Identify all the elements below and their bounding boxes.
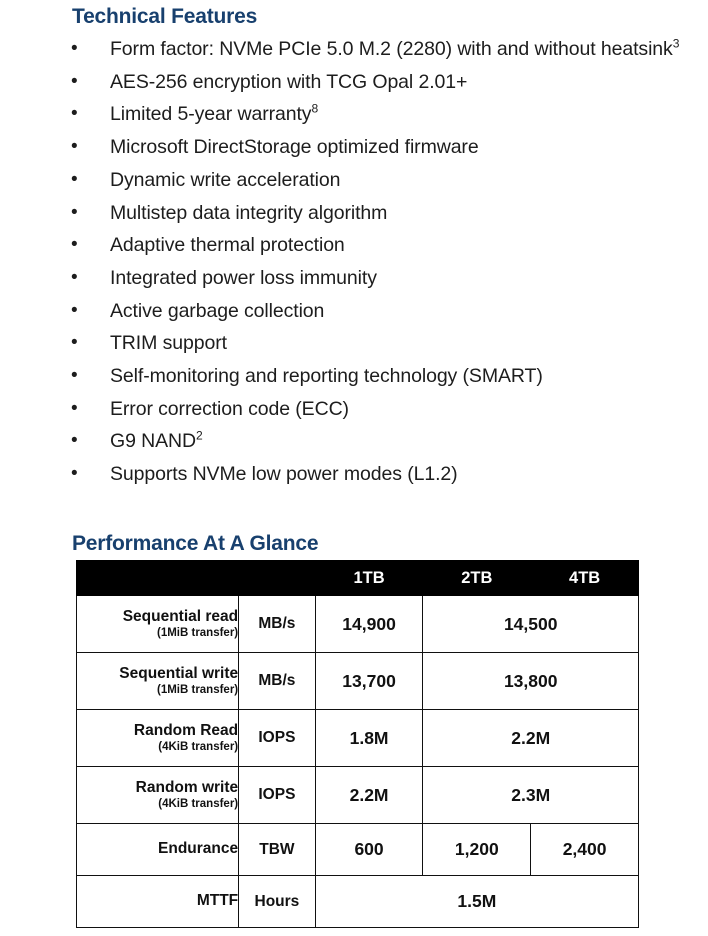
technical-features-list: •Form factor: NVMe PCIe 5.0 M.2 (2280) w… xyxy=(0,33,708,491)
metric-sublabel: (1MiB transfer) xyxy=(77,684,238,698)
table-row: Sequential read(1MiB transfer)MB/s14,900… xyxy=(77,596,639,653)
metric-sublabel: (4KiB transfer) xyxy=(77,741,238,755)
performance-table-body: Sequential read(1MiB transfer)MB/s14,900… xyxy=(77,596,639,928)
table-row: EnduranceTBW6001,2002,400 xyxy=(77,824,639,876)
value-cell: 13,800 xyxy=(423,653,639,710)
unit-cell: IOPS xyxy=(239,767,316,824)
table-header-capacity-1tb: 1TB xyxy=(315,561,423,596)
table-row: Sequential write(1MiB transfer)MB/s13,70… xyxy=(77,653,639,710)
feature-item-label: AES-256 encryption with TCG Opal 2.01+ xyxy=(110,71,467,93)
value-cell: 2.2M xyxy=(423,710,639,767)
page-title-performance-at-a-glance: Performance At A Glance xyxy=(72,532,318,556)
table-header-unit xyxy=(239,561,316,596)
feature-item-label: Microsoft DirectStorage optimized firmwa… xyxy=(110,136,479,158)
feature-item-label: Dynamic write acceleration xyxy=(110,169,340,191)
table-header-capacity-4tb: 4TB xyxy=(531,561,639,596)
unit-cell: TBW xyxy=(239,824,316,876)
table-header-metric xyxy=(77,561,239,596)
bullet-icon: • xyxy=(71,458,78,491)
metric-cell: Sequential write(1MiB transfer) xyxy=(77,653,239,710)
bullet-icon: • xyxy=(71,131,78,164)
bullet-icon: • xyxy=(71,327,78,360)
metric-cell: MTTF xyxy=(77,876,239,928)
bullet-icon: • xyxy=(71,98,78,131)
metric-sublabel: (4KiB transfer) xyxy=(77,798,238,812)
unit-cell: IOPS xyxy=(239,710,316,767)
feature-list-item: •TRIM support xyxy=(0,327,708,360)
metric-name: Sequential write xyxy=(77,665,238,683)
unit-cell: Hours xyxy=(239,876,316,928)
bullet-icon: • xyxy=(71,393,78,426)
feature-item-label: Limited 5-year warranty xyxy=(110,103,311,125)
feature-item-label: Self-monitoring and reporting technology… xyxy=(110,365,543,387)
feature-item-label: TRIM support xyxy=(110,332,227,354)
value-cell: 1,200 xyxy=(423,824,531,876)
metric-name: Sequential read xyxy=(77,608,238,626)
value-cell: 13,700 xyxy=(315,653,423,710)
feature-item-label: Integrated power loss immunity xyxy=(110,267,377,289)
feature-list-item: •Microsoft DirectStorage optimized firmw… xyxy=(0,131,708,164)
bullet-icon: • xyxy=(71,33,78,66)
value-cell: 14,500 xyxy=(423,596,639,653)
feature-list-item: •Active garbage collection xyxy=(0,295,708,328)
value-cell: 2,400 xyxy=(531,824,639,876)
bullet-icon: • xyxy=(71,164,78,197)
metric-sublabel: (1MiB transfer) xyxy=(77,627,238,641)
feature-item-label: Multistep data integrity algorithm xyxy=(110,202,387,224)
bullet-icon: • xyxy=(71,197,78,230)
feature-item-label: Form factor: NVMe PCIe 5.0 M.2 (2280) wi… xyxy=(110,38,673,60)
feature-list-item: •Form factor: NVMe PCIe 5.0 M.2 (2280) w… xyxy=(0,33,708,66)
metric-name: Random Read xyxy=(77,722,238,740)
metric-name: MTTF xyxy=(77,892,238,910)
page-title-technical-features: Technical Features xyxy=(72,5,257,29)
metric-name: Endurance xyxy=(77,840,238,858)
feature-list-item: •Adaptive thermal protection xyxy=(0,229,708,262)
table-row: Random write(4KiB transfer)IOPS2.2M2.3M xyxy=(77,767,639,824)
unit-cell: MB/s xyxy=(239,596,316,653)
bullet-icon: • xyxy=(71,229,78,262)
bullet-icon: • xyxy=(71,262,78,295)
value-cell: 2.2M xyxy=(315,767,423,824)
feature-list-item: •AES-256 encryption with TCG Opal 2.01+ xyxy=(0,66,708,99)
feature-item-label: Active garbage collection xyxy=(110,300,324,322)
metric-cell: Endurance xyxy=(77,824,239,876)
metric-cell: Sequential read(1MiB transfer) xyxy=(77,596,239,653)
feature-list-item: •Supports NVMe low power modes (L1.2) xyxy=(0,458,708,491)
table-row: Random Read(4KiB transfer)IOPS1.8M2.2M xyxy=(77,710,639,767)
value-cell: 1.8M xyxy=(315,710,423,767)
feature-list-item: •Dynamic write acceleration xyxy=(0,164,708,197)
feature-list-item: •Integrated power loss immunity xyxy=(0,262,708,295)
table-header-row: 1TB 2TB 4TB xyxy=(77,561,639,596)
feature-list-item: •G9 NAND2 xyxy=(0,425,708,458)
value-cell: 2.3M xyxy=(423,767,639,824)
footnote-marker: 2 xyxy=(196,429,203,443)
metric-cell: Random write(4KiB transfer) xyxy=(77,767,239,824)
footnote-marker: 3 xyxy=(673,37,680,51)
bullet-icon: • xyxy=(71,425,78,458)
value-cell: 600 xyxy=(315,824,423,876)
feature-list-item: •Multistep data integrity algorithm xyxy=(0,197,708,230)
bullet-icon: • xyxy=(71,360,78,393)
feature-item-label: Adaptive thermal protection xyxy=(110,234,345,256)
performance-table: 1TB 2TB 4TB Sequential read(1MiB transfe… xyxy=(76,560,639,928)
metric-cell: Random Read(4KiB transfer) xyxy=(77,710,239,767)
feature-item-label: Error correction code (ECC) xyxy=(110,398,349,420)
feature-list-item: •Self-monitoring and reporting technolog… xyxy=(0,360,708,393)
bullet-icon: • xyxy=(71,295,78,328)
metric-name: Random write xyxy=(77,779,238,797)
footnote-marker: 8 xyxy=(311,102,318,116)
feature-list-item: •Limited 5-year warranty8 xyxy=(0,98,708,131)
value-cell: 1.5M xyxy=(315,876,638,928)
bullet-icon: • xyxy=(71,66,78,99)
table-row: MTTFHours1.5M xyxy=(77,876,639,928)
performance-table-head: 1TB 2TB 4TB xyxy=(77,561,639,596)
value-cell: 14,900 xyxy=(315,596,423,653)
table-header-capacity-2tb: 2TB xyxy=(423,561,531,596)
feature-item-label: Supports NVMe low power modes (L1.2) xyxy=(110,463,458,485)
feature-item-label: G9 NAND xyxy=(110,430,196,452)
unit-cell: MB/s xyxy=(239,653,316,710)
feature-list-item: •Error correction code (ECC) xyxy=(0,393,708,426)
